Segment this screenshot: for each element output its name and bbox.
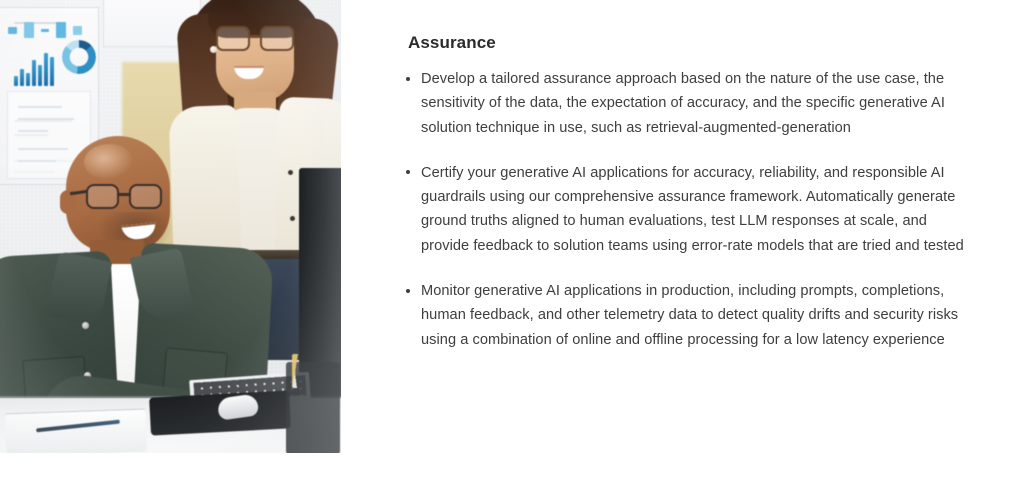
- cardigan-button: [290, 216, 295, 221]
- block-icon: [8, 27, 17, 34]
- photo-scene: [0, 0, 341, 453]
- lens-left: [86, 184, 119, 209]
- block-icon: [41, 29, 49, 32]
- list-item-text: Certify your generative AI applications …: [421, 165, 964, 254]
- jacket-snap: [82, 322, 89, 329]
- panel-line: [18, 118, 74, 120]
- bar-chart-icon: [14, 46, 54, 86]
- bullet-icon: [406, 170, 410, 174]
- pencils: [292, 354, 338, 388]
- donut-chart-icon: [62, 40, 96, 74]
- block-icon: [73, 26, 82, 35]
- lens-right: [129, 184, 162, 209]
- icon-blocks-row: [8, 22, 82, 38]
- notebook: [5, 410, 146, 453]
- panel-line: [18, 130, 48, 132]
- page-root: Assurance Develop a tailored assurance a…: [0, 0, 1024, 504]
- head-highlight: [84, 144, 134, 180]
- bullet-icon: [406, 77, 410, 81]
- bullet-list: Develop a tailored assurance approach ba…: [406, 67, 966, 352]
- block-icon: [56, 22, 66, 38]
- panel-line: [18, 106, 62, 108]
- lens-right: [260, 26, 294, 51]
- eyeglasses: [86, 184, 170, 210]
- list-item: Certify your generative AI applications …: [406, 161, 966, 258]
- content-column: Assurance Develop a tailored assurance a…: [406, 33, 966, 352]
- eyeglasses: [216, 26, 298, 52]
- hero-photo: [0, 0, 341, 453]
- list-item: Develop a tailored assurance approach ba…: [406, 67, 966, 140]
- glasses-bridge: [119, 193, 130, 196]
- list-item-text: Monitor generative AI applications in pr…: [421, 283, 958, 348]
- bullet-icon: [406, 289, 410, 293]
- list-item-text: Develop a tailored assurance approach ba…: [421, 71, 945, 136]
- lens-left: [216, 26, 250, 51]
- glasses-bridge: [250, 35, 262, 38]
- section-title: Assurance: [408, 33, 966, 53]
- block-icon: [24, 22, 34, 38]
- list-item: Monitor generative AI applications in pr…: [406, 279, 966, 352]
